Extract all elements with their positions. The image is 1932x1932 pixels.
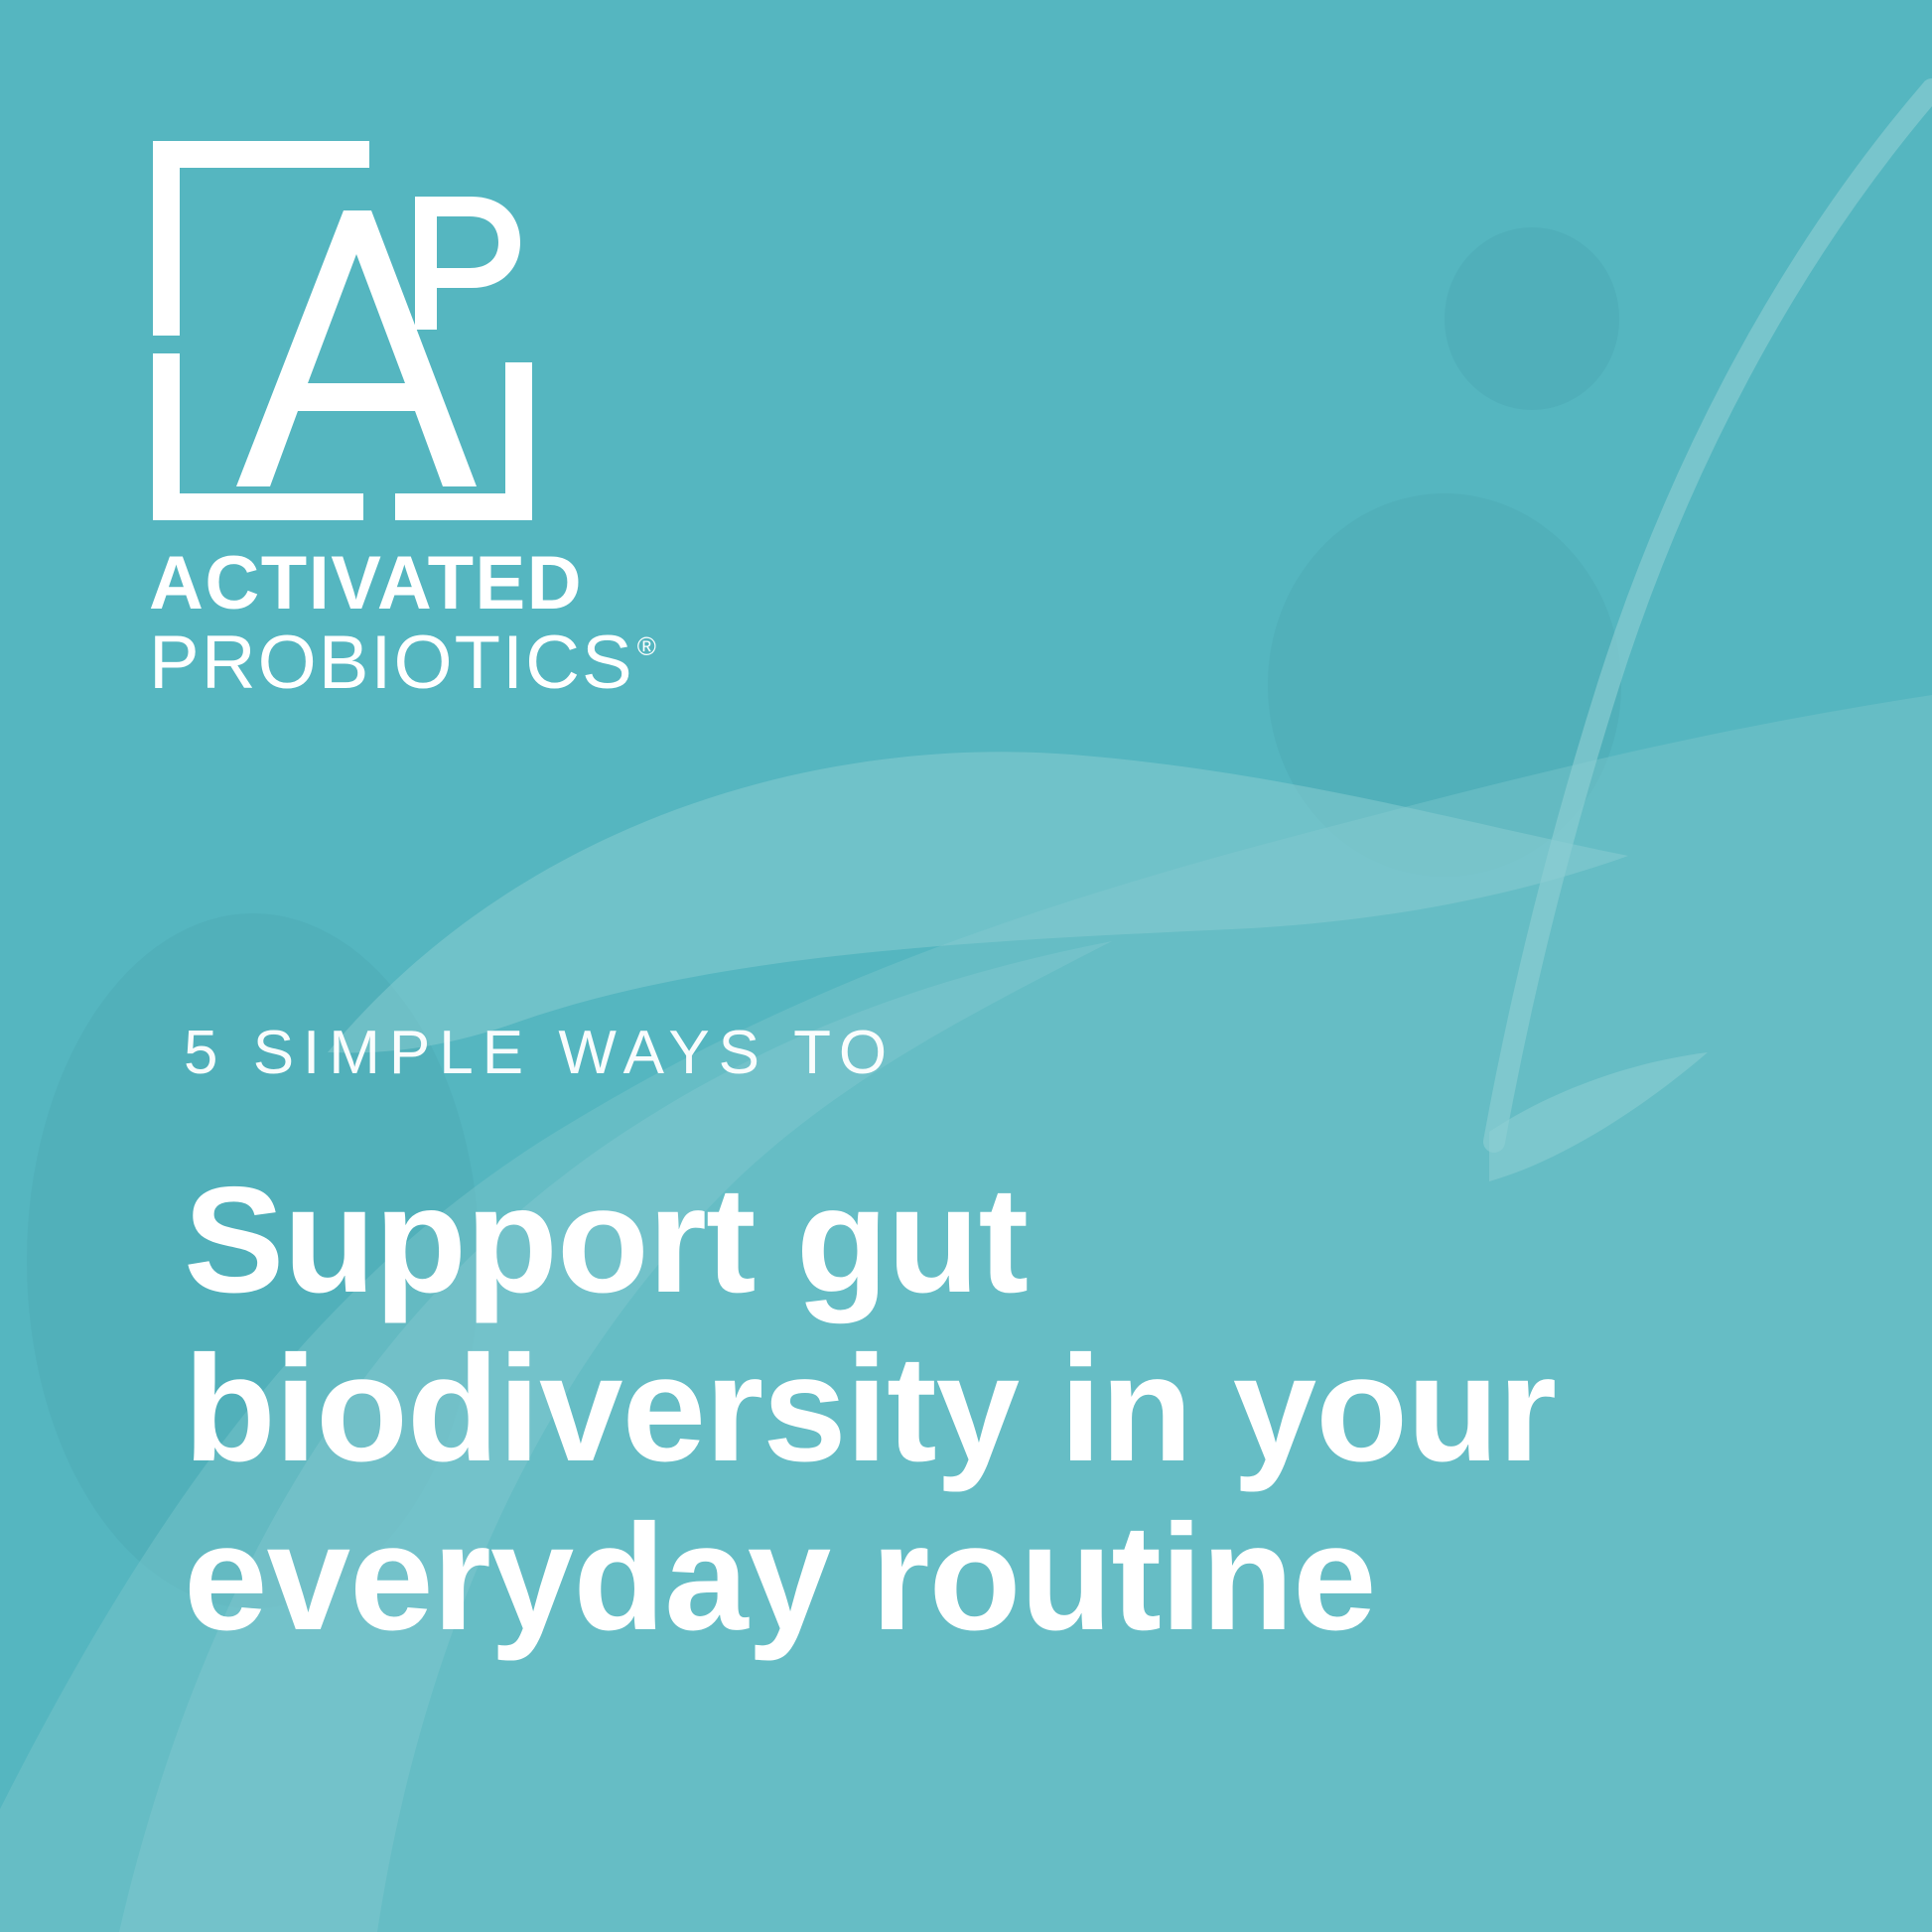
headline: Support gut biodiversity in your everyda… [184, 1156, 1852, 1663]
bracket-left-upper [153, 141, 180, 336]
wordmark-probiotics: PROBIOTICS [149, 626, 634, 700]
wordmark-activated: ACTIVATED [149, 548, 784, 621]
headline-line-3: everyday routine [184, 1493, 1852, 1662]
registered-trademark-icon: ® [637, 634, 656, 659]
bracket-top-arm [153, 141, 369, 168]
letter-a-glyph [236, 210, 477, 486]
eyebrow-text: 5 SIMPLE WAYS TO [184, 1023, 1852, 1084]
ap-monogram-icon [149, 137, 536, 524]
soft-circle-small-top-right [1445, 227, 1619, 410]
bracket-right-lower [505, 362, 532, 520]
headline-line-2: biodiversity in your [184, 1324, 1852, 1493]
social-card: ACTIVATED PROBIOTICS ® 5 SIMPLE WAYS TO … [0, 0, 1932, 1932]
copy-block: 5 SIMPLE WAYS TO Support gut biodiversit… [184, 1023, 1852, 1663]
brand-logo-block: ACTIVATED PROBIOTICS ® [149, 137, 784, 700]
headline-line-1: Support gut [184, 1156, 1852, 1324]
wordmark-probiotics-row: PROBIOTICS ® [149, 626, 784, 700]
bracket-bottom-arm [153, 493, 363, 520]
wordmark: ACTIVATED PROBIOTICS ® [149, 548, 784, 700]
letter-p-glyph [415, 197, 520, 330]
